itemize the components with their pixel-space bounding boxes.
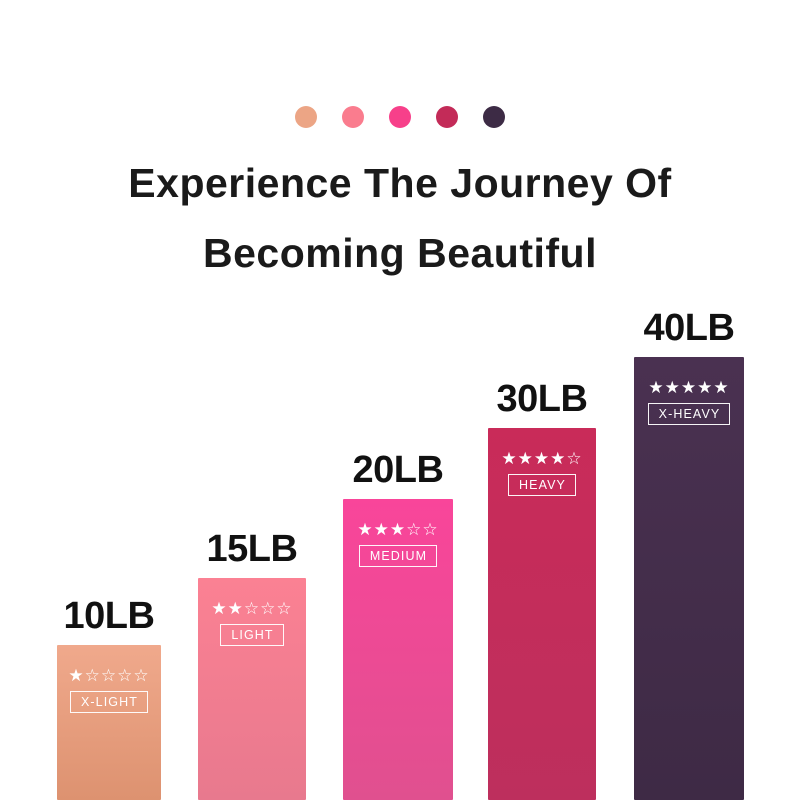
- star-rating-icon: ★★★☆☆: [357, 521, 438, 539]
- star-rating-icon: ★★★★★: [648, 379, 729, 397]
- bar-group-40lb: ★★★★★X-HEAVY40LB: [634, 357, 744, 800]
- resistance-bar-chart: ★☆☆☆☆X-LIGHT10LB★★☆☆☆LIGHT15LB★★★☆☆MEDIU…: [0, 0, 800, 800]
- star-rating-icon: ★★★★☆: [501, 450, 582, 468]
- resistance-band-infographic: Experience The Journey Of Becoming Beaut…: [0, 0, 800, 800]
- star-rating-icon: ★☆☆☆☆: [68, 667, 149, 685]
- badge-x-heavy: ★★★★★X-HEAVY: [634, 379, 744, 425]
- level-label: LIGHT: [220, 624, 283, 646]
- star-rating-icon: ★★☆☆☆: [211, 600, 292, 618]
- badge-heavy: ★★★★☆HEAVY: [488, 450, 596, 496]
- weight-label-15lb: 15LB: [207, 528, 298, 571]
- weight-label-10lb: 10LB: [64, 595, 155, 638]
- weight-label-20lb: 20LB: [353, 449, 444, 492]
- badge-medium: ★★★☆☆MEDIUM: [343, 521, 453, 567]
- bar-group-30lb: ★★★★☆HEAVY30LB: [488, 428, 596, 800]
- bar-group-15lb: ★★☆☆☆LIGHT15LB: [198, 578, 306, 800]
- weight-label-30lb: 30LB: [497, 378, 588, 421]
- level-label: HEAVY: [508, 474, 576, 496]
- level-label: X-HEAVY: [648, 403, 731, 425]
- badge-light: ★★☆☆☆LIGHT: [198, 600, 306, 646]
- bar-group-10lb: ★☆☆☆☆X-LIGHT10LB: [57, 645, 161, 800]
- level-label: MEDIUM: [359, 545, 437, 567]
- bar-group-20lb: ★★★☆☆MEDIUM20LB: [343, 499, 453, 800]
- badge-x-light: ★☆☆☆☆X-LIGHT: [57, 667, 161, 713]
- level-label: X-LIGHT: [70, 691, 148, 713]
- weight-label-40lb: 40LB: [644, 307, 735, 350]
